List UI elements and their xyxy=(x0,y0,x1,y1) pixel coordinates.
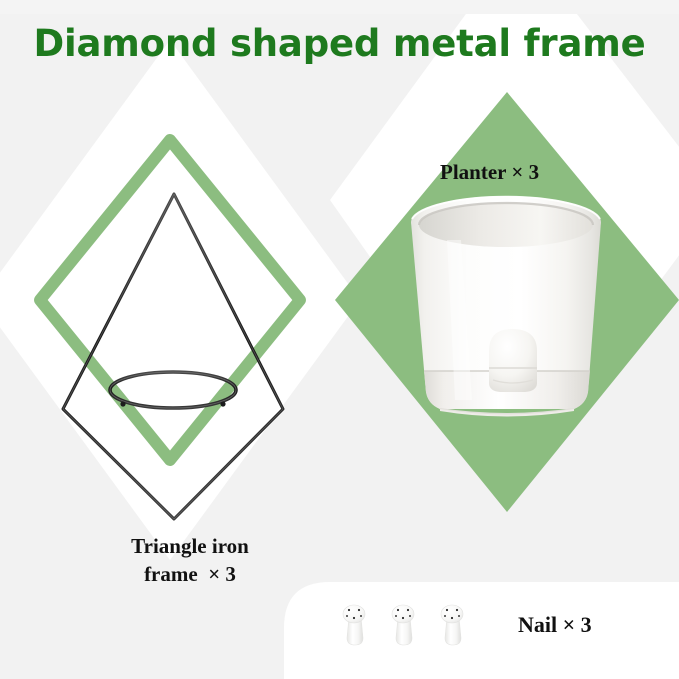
planter-art xyxy=(411,196,601,417)
nail-hooks-group xyxy=(343,605,463,645)
frame-label-line2: frame × 3 xyxy=(144,562,236,586)
nail-hook xyxy=(392,605,414,645)
frame-weld-left xyxy=(120,401,125,406)
nail-label: Nail × 3 xyxy=(518,612,592,638)
infographic-canvas: Diamond shaped metal frame Planter × 3 T… xyxy=(0,0,679,679)
nail-hook xyxy=(343,605,365,645)
planter-label: Planter × 3 xyxy=(440,160,539,185)
frame-ring-highlight xyxy=(110,372,236,408)
triangle-iron-frame-label: Triangle ironframe × 3 xyxy=(80,532,300,588)
nail-hook xyxy=(441,605,463,645)
page-title: Diamond shaped metal frame xyxy=(0,22,679,65)
frame-label-line1: Triangle iron xyxy=(131,534,249,558)
left-diamond-outline xyxy=(40,140,300,460)
frame-weld-right xyxy=(220,401,225,406)
